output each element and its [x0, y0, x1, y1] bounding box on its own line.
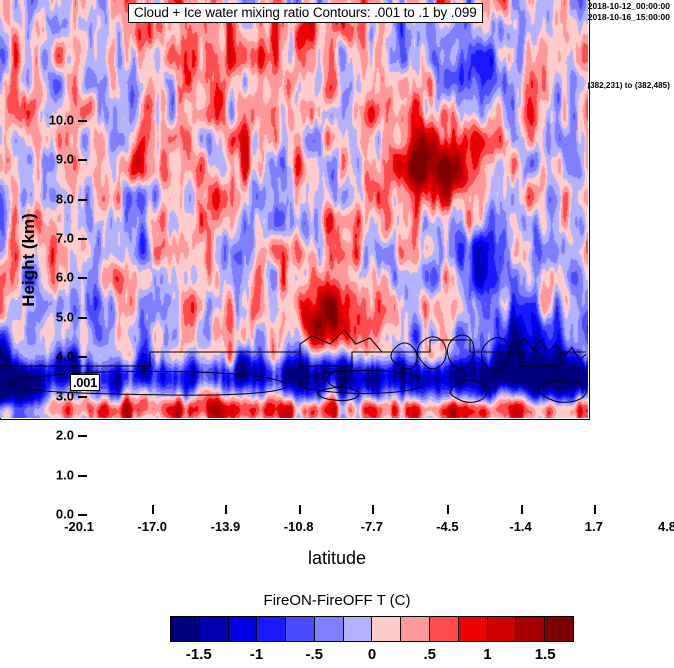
- colorbar-swatch: [229, 617, 258, 641]
- y-tick-mark: [78, 514, 87, 516]
- x-tick-mark: [594, 505, 596, 514]
- cloud-contour-path: [482, 338, 511, 371]
- y-tick-mark: [78, 238, 87, 240]
- colorbar-swatch: [286, 617, 315, 641]
- colorbar-tick-label: -1: [250, 646, 263, 663]
- y-tick-mark: [78, 435, 87, 437]
- colorbar-tick-label: -1.5: [186, 646, 212, 663]
- colorbar-swatch: [488, 617, 517, 641]
- contour-title-box: Cloud + Ice water mixing ratio Contours:…: [128, 3, 483, 23]
- cloud-contour-path: [318, 388, 359, 401]
- x-axis-label: latitude: [0, 548, 674, 569]
- colorbar-swatch: [344, 617, 373, 641]
- y-tick-mark: [78, 356, 87, 358]
- cloud-contour-path: [327, 371, 346, 387]
- colorbar-title: FireON-FireOFF T (C): [0, 592, 674, 609]
- x-tick-mark: [372, 505, 374, 514]
- cloud-contour-path: [417, 337, 446, 369]
- cloud-contour-path: [450, 380, 486, 402]
- y-tick-label: 9.0: [26, 152, 74, 167]
- x-tick-mark: [521, 505, 523, 514]
- colorbar-swatch: [171, 617, 200, 641]
- x-tick-label: -13.9: [211, 519, 241, 534]
- x-tick-label: -4.5: [436, 519, 458, 534]
- cloud-contour-path: [300, 330, 382, 352]
- colorbar-swatch: [200, 617, 229, 641]
- colorbar-swatch: [516, 617, 545, 641]
- x-tick-label: 4.8: [658, 519, 674, 534]
- y-tick-label: 2.0: [26, 428, 74, 443]
- y-tick-mark: [78, 475, 87, 477]
- y-tick-label: 3.0: [26, 388, 74, 403]
- colorbar-swatch: [372, 617, 401, 641]
- x-tick-mark: [447, 505, 449, 514]
- colorbar-tick-label: 0: [368, 646, 376, 663]
- x-tick-label: -17.0: [137, 519, 167, 534]
- cloud-ice-contours: [0, 0, 588, 418]
- x-tick-label: -20.1: [64, 519, 94, 534]
- y-tick-label: 10.0: [26, 112, 74, 127]
- colorbar-swatch: [545, 617, 573, 641]
- x-tick-mark: [225, 505, 227, 514]
- x-tick-label: -7.7: [361, 519, 383, 534]
- cloud-contour-path: [391, 343, 417, 369]
- colorbar-tick-label: 1.5: [535, 646, 556, 663]
- colorbar-swatch: [401, 617, 430, 641]
- colorbar-tick-label: 1: [483, 646, 491, 663]
- y-tick-label: 1.0: [26, 467, 74, 482]
- cloud-contour-path: [2, 340, 586, 366]
- colorbar-swatch: [459, 617, 488, 641]
- y-tick-mark: [78, 199, 87, 201]
- x-tick-label: 1.7: [585, 519, 603, 534]
- plot-area: Cloud + Ice water mixing ratio Contours:…: [0, 0, 590, 420]
- y-axis-label: Height (km): [19, 180, 39, 340]
- colorbar-swatch: [257, 617, 286, 641]
- colorbar-strip: [170, 616, 574, 642]
- colorbar-tick-label: -.5: [306, 646, 324, 663]
- y-tick-mark: [78, 277, 87, 279]
- cloud-contour-path: [300, 370, 424, 393]
- colorbar-tick-label: .5: [423, 646, 436, 663]
- colorbar-swatch: [430, 617, 459, 641]
- y-tick-mark: [78, 317, 87, 319]
- cloud-contour-path: [516, 338, 586, 360]
- x-tick-label: -10.8: [284, 519, 314, 534]
- y-tick-mark: [78, 159, 87, 161]
- y-tick-mark: [78, 120, 87, 122]
- y-tick-mark: [78, 396, 87, 398]
- cloud-contour-path: [539, 380, 586, 402]
- y-tick-label: 4.0: [26, 349, 74, 364]
- colorbar-swatch: [315, 617, 344, 641]
- x-tick-mark: [152, 505, 154, 514]
- contour-level-label: .001: [70, 374, 100, 391]
- x-tick-label: -1.4: [509, 519, 531, 534]
- x-tick-mark: [299, 505, 301, 514]
